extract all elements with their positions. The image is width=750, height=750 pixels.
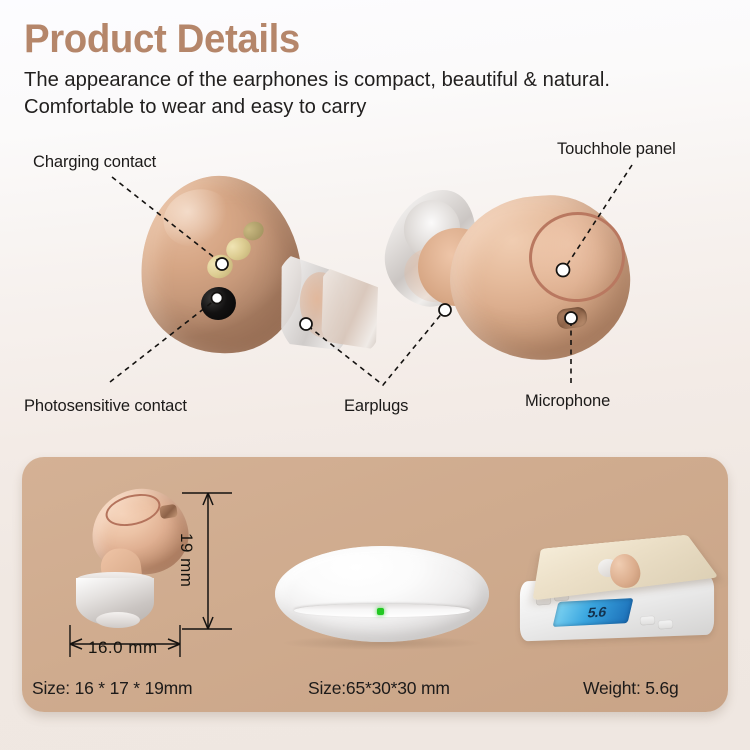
marker-dot-earplug-right bbox=[439, 304, 451, 316]
scale-button-3[interactable] bbox=[640, 615, 656, 625]
charging-case bbox=[275, 546, 489, 642]
spec-caption-case-size: Size:65*30*30 mm bbox=[308, 678, 450, 699]
callout-label-touchhole-panel: Touchhole panel bbox=[557, 140, 676, 159]
dimension-width-label: 16.0 mm bbox=[88, 638, 158, 658]
spec-caption-weight: Weight: 5.6g bbox=[583, 678, 679, 699]
spec-caption-earbud-size: Size: 16 * 17 * 19mm bbox=[32, 678, 192, 699]
product-details-page: Product Details The appearance of the ea… bbox=[0, 0, 750, 750]
scale-button-4[interactable] bbox=[658, 619, 674, 629]
callout-label-microphone: Microphone bbox=[525, 392, 610, 411]
callout-label-charging-contact: Charging contact bbox=[33, 153, 156, 172]
green-led-icon bbox=[377, 608, 384, 615]
page-subtitle: The appearance of the earphones is compa… bbox=[24, 66, 725, 120]
spec-earbud-microphone bbox=[159, 504, 178, 519]
dimension-height-label: 19 mm bbox=[176, 533, 196, 587]
page-title: Product Details bbox=[24, 18, 300, 60]
callout-label-photosensitive-contact: Photosensitive contact bbox=[24, 397, 187, 416]
spec-earbud-tip-base bbox=[96, 612, 140, 628]
callout-label-earplugs: Earplugs bbox=[344, 397, 408, 416]
